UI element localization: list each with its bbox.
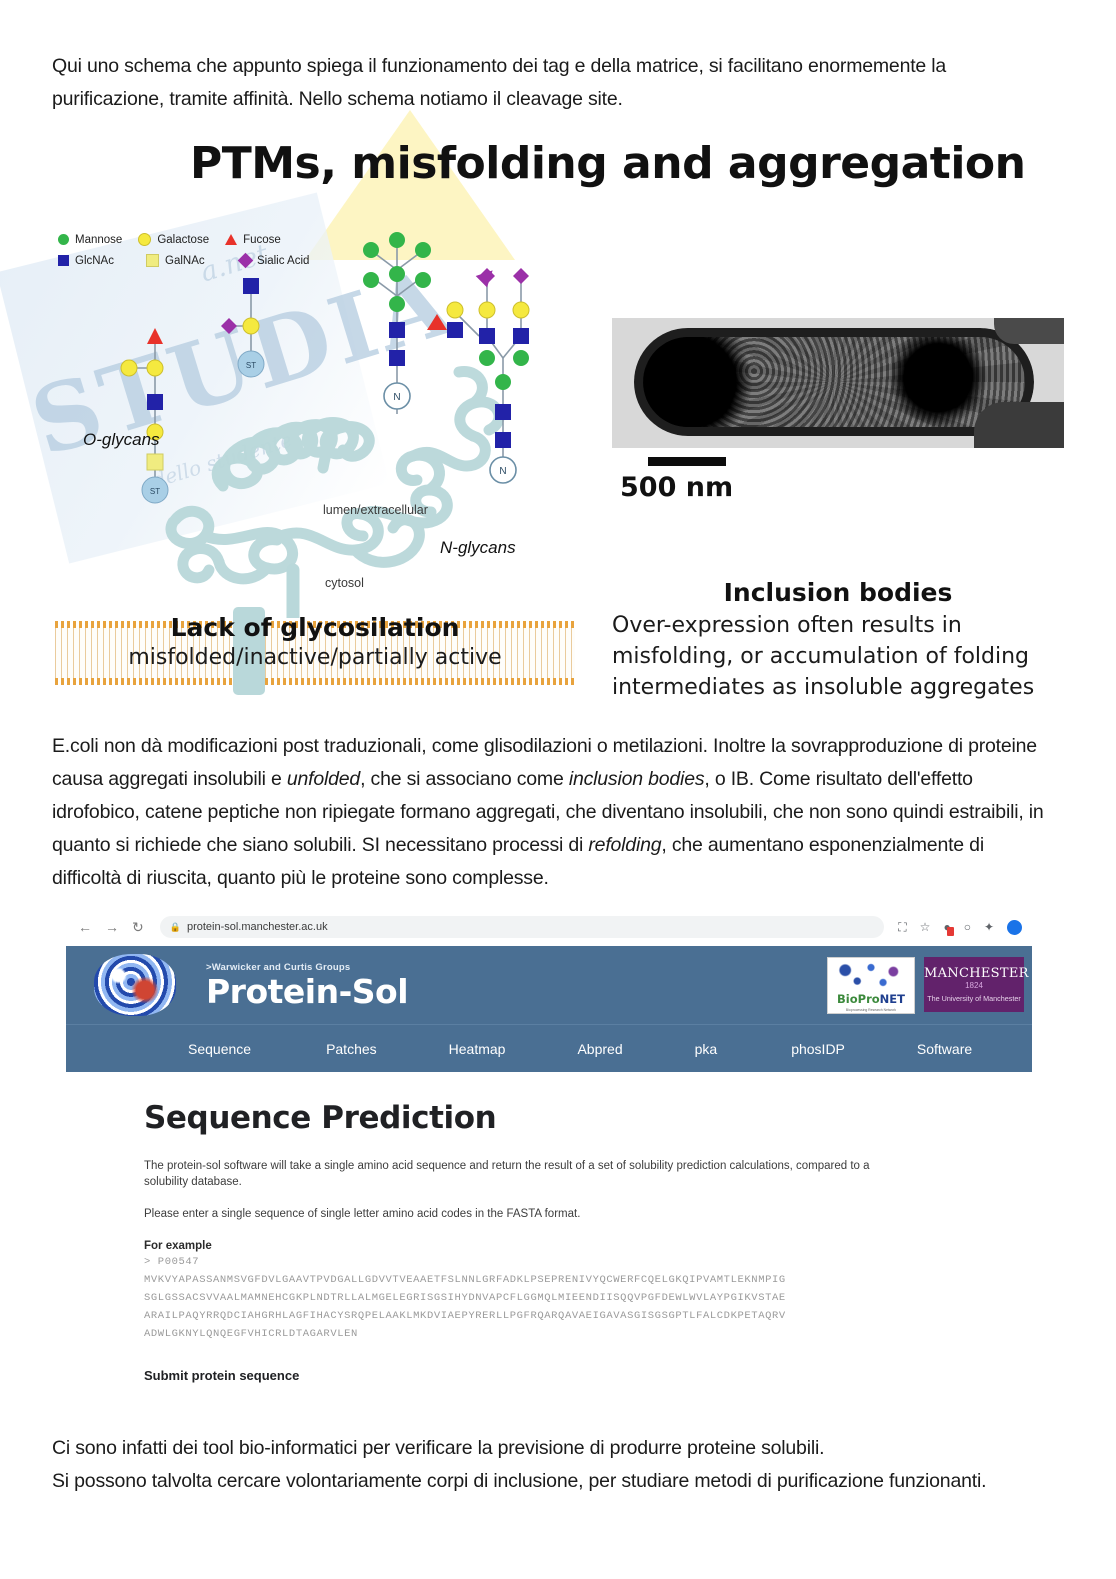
site-header: >Warwicker and Curtis Groups Protein-Sol…	[66, 946, 1032, 1024]
lock-icon: 🔒	[170, 922, 181, 933]
forward-icon[interactable]: →	[105, 919, 119, 935]
submit-protein-sequence-label[interactable]: Submit protein sequence	[144, 1368, 1032, 1383]
puzzle-icon[interactable]: ✦	[984, 920, 994, 934]
biopronet-tagline: Bioprocessing Research Network	[828, 1008, 914, 1012]
ecoli-cell	[634, 328, 1034, 436]
fasta-line-1: MVKVYAPASSANMSVGFDVLGAAVTPVDGALLGDVVTVEA…	[144, 1273, 1032, 1288]
nav-item-abpred[interactable]: Abpred	[577, 1041, 622, 1057]
neighbor-cell-bottom	[974, 402, 1064, 448]
fucose-glyph	[147, 328, 163, 344]
biopronet-blue-text: NET	[880, 992, 905, 1006]
closing-paragraph-line-1: Ci sono infatti dei tool bio-informatici…	[52, 1432, 1062, 1465]
svg-text:ST: ST	[150, 487, 160, 496]
nav-item-patches[interactable]: Patches	[326, 1041, 377, 1057]
o-glycans-label: O-glycans	[83, 430, 160, 450]
right-caption-line-1: Over-expression often results in	[612, 610, 1064, 641]
glycosylation-diagram: ST ST	[55, 218, 575, 578]
svg-text:N: N	[393, 392, 400, 403]
emphasis-inclusion-bodies: inclusion bodies	[569, 768, 705, 790]
browser-screenshot: ← → ↻ 🔒 protein-sol.manchester.ac.uk ⛶ ☆…	[66, 908, 1032, 1428]
middle-paragraph-part-2: , che si associano come	[360, 768, 569, 790]
manchester-logo: MANCHESTER 1824 The University of Manche…	[924, 957, 1024, 1012]
browser-nav-controls: ← → ↻	[78, 919, 144, 936]
left-caption-heading: Lack of glycosilation	[55, 613, 575, 642]
closing-paragraph: Ci sono infatti dei tool bio-informatici…	[52, 1432, 1062, 1498]
nav-item-pka[interactable]: pka	[695, 1041, 718, 1057]
emphasis-unfolded: unfolded	[287, 768, 360, 790]
back-icon[interactable]: ←	[78, 919, 92, 935]
site-navigation: Sequence Patches Heatmap Abpred pka phos…	[66, 1024, 1032, 1073]
manchester-subtitle: The University of Manchester	[924, 994, 1024, 1003]
glycan-svg: ST ST	[55, 218, 575, 618]
page-instruction-text: Please enter a single sequence of single…	[144, 1208, 1032, 1220]
right-caption: Inclusion bodies Over-expression often r…	[612, 578, 1064, 703]
browser-toolbar: ← → ↻ 🔒 protein-sol.manchester.ac.uk ⛶ ☆…	[66, 908, 1032, 946]
cytosol-label: cytosol	[325, 576, 364, 590]
emphasis-refolding: refolding	[588, 834, 661, 856]
comment-icon[interactable]: ○	[964, 920, 971, 934]
protein-structure-logo	[94, 954, 176, 1016]
site-brand-title: Protein-Sol	[206, 972, 408, 1011]
neighbor-cell-top	[994, 318, 1064, 344]
nav-item-sequence[interactable]: Sequence	[188, 1041, 251, 1057]
tem-frame	[612, 318, 1064, 448]
nav-item-heatmap[interactable]: Heatmap	[449, 1041, 506, 1057]
reload-icon[interactable]: ↻	[132, 919, 144, 936]
fasta-header-line: > P00547	[144, 1255, 1032, 1270]
fasta-line-4: ADWLGKNYLQNQEGFVHICRLDTAGARVLEN	[144, 1327, 1032, 1342]
n-glycans-label: N-glycans	[440, 538, 516, 558]
manchester-year: 1824	[924, 981, 1024, 990]
biopronet-wordmark: BioProNET	[828, 992, 914, 1006]
closing-paragraph-line-2: Si possono talvolta cercare volontariame…	[52, 1465, 1062, 1498]
right-caption-line-3: intermediates as insoluble aggregates	[612, 672, 1064, 703]
lecture-slide: STUDIA a.net dello studente PTMs, misfol…	[0, 118, 1116, 718]
address-bar[interactable]: 🔒 protein-sol.manchester.ac.uk	[160, 916, 885, 938]
svg-text:ST: ST	[246, 361, 256, 370]
page-content: Sequence Prediction The protein-sol soft…	[66, 1072, 1032, 1428]
biopronet-network-graphic	[828, 960, 914, 994]
page-intro-text: The protein-sol software will take a sin…	[144, 1158, 914, 1190]
profile-avatar[interactable]	[1007, 920, 1022, 935]
svg-text:N: N	[499, 466, 506, 477]
tem-image	[612, 318, 1064, 448]
slide-title: PTMs, misfolding and aggregation	[190, 138, 1025, 189]
extension-alert-icon[interactable]: ●	[943, 920, 950, 934]
biopronet-green-text: BioPro	[837, 992, 880, 1006]
example-label: For example	[144, 1240, 1032, 1252]
page-title: Sequence Prediction	[144, 1100, 1032, 1136]
right-caption-heading: Inclusion bodies	[612, 578, 1064, 607]
fasta-line-3: ARAILPAQYRRQDCIAHGRHLAGFIHACYSRQPELAAKLM…	[144, 1309, 1032, 1324]
left-caption: Lack of glycosilation misfolded/inactive…	[55, 613, 575, 670]
manchester-name: MANCHESTER	[924, 966, 1024, 981]
browser-action-icons: ⛶ ☆ ● ○ ✦	[898, 920, 1022, 935]
scale-bar	[648, 457, 726, 466]
cytoplasm-texture	[643, 337, 1025, 427]
nav-item-phosidp[interactable]: phosIDP	[791, 1041, 845, 1057]
intro-paragraph: Qui uno schema che appunto spiega il fun…	[52, 50, 952, 116]
url-text: protein-sol.manchester.ac.uk	[187, 921, 328, 933]
middle-paragraph: E.coli non dà modificazioni post traduzi…	[52, 730, 1052, 895]
document-page: Qui uno schema che appunto spiega il fun…	[0, 0, 1116, 1579]
star-icon[interactable]: ☆	[920, 920, 931, 934]
nav-item-software[interactable]: Software	[917, 1041, 972, 1057]
biopronet-logo: BioProNET Bioprocessing Research Network	[827, 957, 915, 1014]
translate-icon[interactable]: ⛶	[898, 920, 906, 935]
right-caption-line-2: misfolding, or accumulation of folding	[612, 641, 1064, 672]
scale-label: 500 nm	[620, 472, 733, 503]
nav-item-about[interactable]: About	[1038, 1041, 1075, 1057]
left-caption-sub: misfolded/inactive/partially active	[55, 645, 575, 670]
fasta-line-2: SGLGSSACSVVAALMAMNEHCGKPLNDTRLLALMGELEGR…	[144, 1291, 1032, 1306]
lumen-label: lumen/extracellular	[323, 503, 428, 517]
membrane-inner-leaflet	[55, 678, 575, 685]
